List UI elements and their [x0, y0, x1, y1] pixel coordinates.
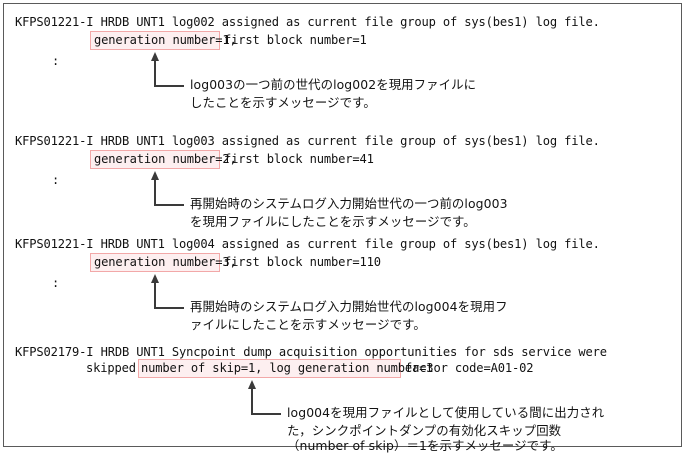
continuation-dots: :	[52, 54, 59, 68]
annotation-line: 再開始時のシステムログ入力開始世代のlog004を現用フ	[190, 298, 508, 316]
annotation-line: ァイルにしたことを示すメッセージです。	[190, 316, 426, 334]
trailing-parameter-text: first block number=110	[224, 255, 381, 270]
highlighted-parameter-text: generation number=3,	[94, 255, 237, 270]
continuation-dots: :	[52, 276, 59, 290]
annotation-line: 再開始時のシステムログ入力開始世代の一つ前のlog003	[190, 195, 508, 213]
highlighted-parameter-text: generation number=2,	[94, 152, 237, 167]
leading-parameter-text: skipped.	[86, 361, 143, 376]
trailing-parameter-text: first block number=41	[224, 152, 374, 167]
log-message-line: KFPS02179-I HRDB UNT1 Syncpoint dump acq…	[15, 345, 607, 360]
annotation-line: したことを示すメッセージです。	[190, 94, 376, 112]
highlighted-parameter-text: number of skip=1, log generation number=…	[141, 361, 433, 376]
trailing-parameter-text: factor code=A01-02	[405, 361, 533, 376]
leader-elbow	[154, 307, 184, 309]
leader-stem	[154, 282, 156, 309]
annotation-line: log004を現用ファイルとして使用している間に出力され	[287, 404, 604, 422]
leader-stem	[154, 179, 156, 206]
annotation-line: log003の一つ前の世代のlog002を現用ファイルに	[190, 76, 476, 94]
leader-stem	[251, 388, 253, 415]
annotation-line: （number of skip）＝1を示すメッセージです。	[287, 437, 563, 455]
log-message-line: KFPS01221-I HRDB UNT1 log002 assigned as…	[15, 15, 600, 30]
highlighted-parameter-text: generation number=1,	[94, 33, 237, 48]
leader-elbow	[154, 204, 184, 206]
trailing-parameter-text: first block number=1	[224, 33, 367, 48]
log-message-line: KFPS01221-I HRDB UNT1 log003 assigned as…	[15, 134, 600, 149]
annotation-line: を現用ファイルにしたことを示すメッセージです。	[190, 213, 476, 231]
leader-stem	[154, 60, 156, 87]
leader-elbow	[154, 85, 184, 87]
continuation-dots: :	[52, 173, 59, 187]
figure-frame: KFPS01221-I HRDB UNT1 log002 assigned as…	[3, 3, 682, 447]
log-message-line: KFPS01221-I HRDB UNT1 log004 assigned as…	[15, 237, 600, 252]
leader-elbow	[251, 413, 281, 415]
